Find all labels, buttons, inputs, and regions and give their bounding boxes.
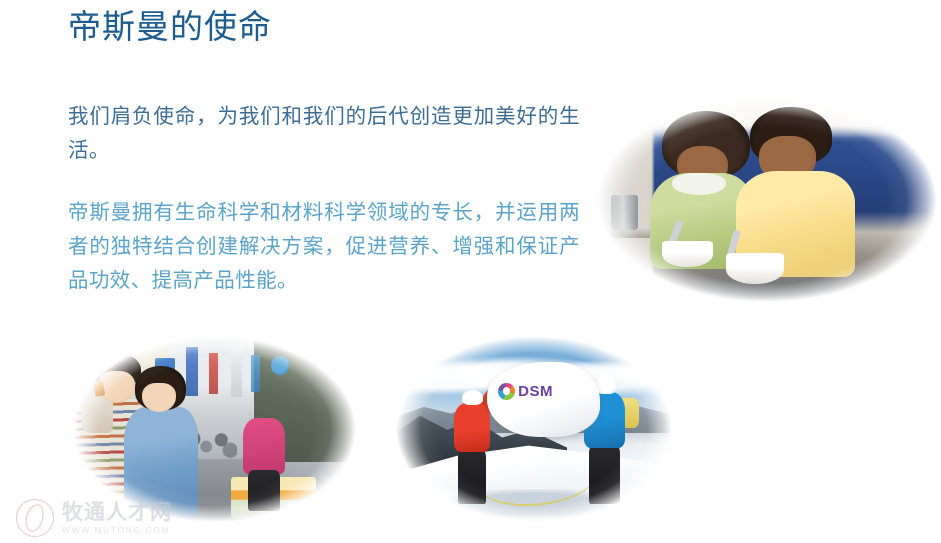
street-banner-shape (186, 347, 197, 395)
photo-street-couple (73, 336, 356, 522)
watermark-swirl-shape (23, 503, 45, 534)
watermark-swirl-circle-icon (14, 497, 56, 539)
watermark-ring-shape (16, 499, 54, 537)
street-banner-shape (251, 355, 260, 392)
photo-climbers-dsm-flag: DSM (396, 336, 672, 523)
climber-red-legs-shape (458, 448, 486, 504)
photo-children-eating-image (597, 97, 937, 302)
kitchen-pot-shape (611, 195, 638, 230)
photo-children-eating (597, 97, 937, 302)
woman-coat-shape (124, 407, 198, 519)
street-banner-shape (231, 345, 241, 397)
dsm-logo: DSM (498, 383, 553, 400)
dsm-wordmark: DSM (518, 383, 553, 400)
slide-canvas: 帝斯曼的使命 我们肩负使命，为我们和我们的后代创造更加美好的生活。 帝斯曼拥有生… (0, 0, 941, 543)
street-banner-shape (209, 353, 219, 394)
bowl-shape (726, 253, 784, 284)
watermark-site-url: WWW.MUTONG.COM (62, 526, 172, 535)
mission-paragraph: 我们肩负使命，为我们和我们的后代创造更加美好的生活。 (68, 100, 580, 168)
photo-climbers-image: DSM (396, 336, 672, 523)
capability-paragraph: 帝斯曼拥有生命科学和材料科学领域的专长，并运用两者的独特结合创建解决方案，促进营… (68, 196, 580, 298)
shopper-pink-shape (243, 418, 285, 474)
climber-blue-legs-shape (589, 444, 619, 504)
climber-red-helmet-shape (462, 390, 483, 405)
photo-street-couple-image (73, 336, 356, 522)
dsm-swirl-icon (498, 383, 515, 400)
shopper-legs-shape (248, 470, 279, 511)
climber-red-jacket-shape (454, 403, 490, 452)
page-title: 帝斯曼的使命 (68, 6, 272, 50)
bowl-shape (662, 241, 713, 268)
